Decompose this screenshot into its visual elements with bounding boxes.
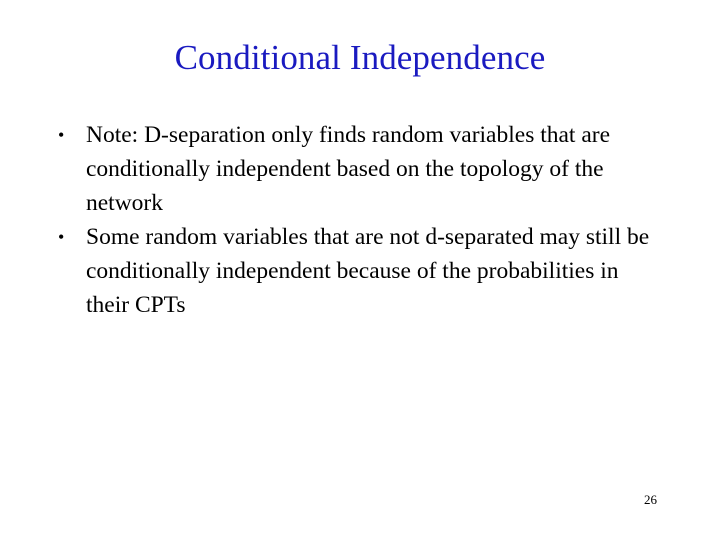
list-item: • Note: D-separation only finds random v… <box>52 118 652 220</box>
bullet-text: Note: D-separation only finds random var… <box>86 118 652 220</box>
list-item: • Some random variables that are not d-s… <box>52 220 652 322</box>
bullet-point-icon: • <box>58 220 72 254</box>
bullet-text: Some random variables that are not d-sep… <box>86 220 652 322</box>
slide-body: • Note: D-separation only finds random v… <box>52 118 652 322</box>
page-title: Conditional Independence <box>0 36 720 80</box>
slide-canvas: Conditional Independence • Note: D-separ… <box>0 0 720 540</box>
bullet-list: • Note: D-separation only finds random v… <box>52 118 652 322</box>
bullet-point-icon: • <box>58 118 72 152</box>
page-number: 26 <box>644 492 657 508</box>
